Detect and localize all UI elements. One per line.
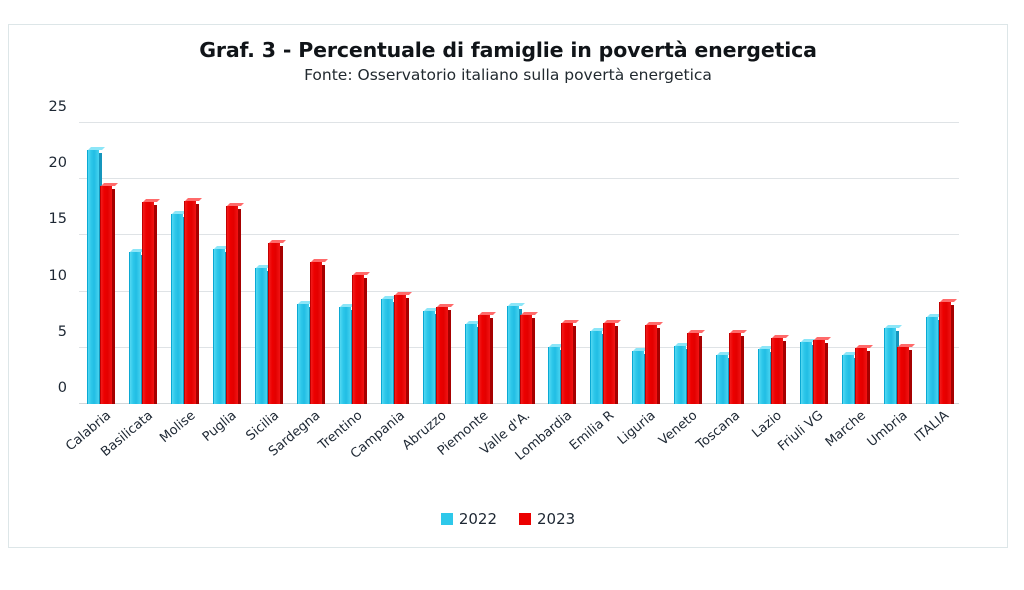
bar-2023 bbox=[687, 333, 699, 404]
bar-2023 bbox=[897, 347, 909, 404]
bar-group bbox=[247, 123, 289, 404]
legend-swatch-icon bbox=[519, 513, 531, 525]
x-axis-label-slot: Puglia bbox=[205, 404, 247, 494]
x-axis-tick-label: Molise bbox=[157, 408, 198, 446]
bar-group bbox=[456, 123, 498, 404]
legend-label: 2022 bbox=[459, 510, 497, 528]
bar-2022 bbox=[590, 331, 602, 404]
bar-group bbox=[163, 123, 205, 404]
bar-2022 bbox=[926, 317, 938, 404]
bar-group bbox=[79, 123, 121, 404]
bar-group bbox=[666, 123, 708, 404]
y-axis-tick-label: 15 bbox=[49, 211, 67, 227]
bar-2022 bbox=[297, 304, 309, 404]
x-axis-tick-label: ITALIA bbox=[912, 408, 952, 445]
bar-2022 bbox=[255, 268, 267, 404]
bar-group bbox=[624, 123, 666, 404]
bar-2023 bbox=[645, 325, 657, 404]
bar-group bbox=[875, 123, 917, 404]
x-axis-label-slot: Liguria bbox=[624, 404, 666, 494]
plot-area: 0510152025 bbox=[79, 123, 959, 404]
bar-2022 bbox=[548, 347, 560, 404]
bar-2022 bbox=[632, 351, 644, 404]
y-axis-tick-label: 20 bbox=[49, 155, 67, 171]
bar-group bbox=[414, 123, 456, 404]
x-axis-label-slot: Emilia R bbox=[582, 404, 624, 494]
bar-group bbox=[205, 123, 247, 404]
bar-2022 bbox=[842, 355, 854, 404]
chart-subtitle-source: Fonte: Osservatorio italiano sulla pover… bbox=[9, 66, 1007, 85]
bar-2023 bbox=[268, 243, 280, 404]
bar-2023 bbox=[813, 340, 825, 404]
chart-title-block: Graf. 3 - Percentuale di famiglie in pov… bbox=[9, 39, 1007, 84]
x-axis-labels: CalabriaBasilicataMolisePugliaSiciliaSar… bbox=[79, 404, 959, 494]
bar-group bbox=[540, 123, 582, 404]
bar-2022 bbox=[87, 150, 99, 404]
bar-2022 bbox=[674, 346, 686, 404]
bar-2023 bbox=[520, 315, 532, 404]
bar-2023 bbox=[436, 307, 448, 404]
bar-2023 bbox=[352, 275, 364, 404]
bar-2022 bbox=[339, 307, 351, 404]
legend-item-2022[interactable]: 2022 bbox=[441, 510, 497, 528]
bar-group bbox=[791, 123, 833, 404]
x-axis-label-slot: ITALIA bbox=[917, 404, 959, 494]
bar-group bbox=[330, 123, 372, 404]
bar-2022 bbox=[507, 306, 519, 404]
bar-series-area bbox=[79, 123, 959, 404]
bar-2022 bbox=[213, 249, 225, 404]
bar-2022 bbox=[423, 311, 435, 404]
bar-2023 bbox=[478, 315, 490, 404]
x-axis-label-slot: Toscana bbox=[708, 404, 750, 494]
bar-group bbox=[498, 123, 540, 404]
x-axis-tick-label: Puglia bbox=[200, 408, 240, 445]
bar-2022 bbox=[381, 299, 393, 404]
bar-group bbox=[708, 123, 750, 404]
legend-item-2023[interactable]: 2023 bbox=[519, 510, 575, 528]
x-axis-label-slot: Friuli VG bbox=[791, 404, 833, 494]
bar-2023 bbox=[142, 202, 154, 404]
bar-2022 bbox=[758, 349, 770, 404]
bar-group bbox=[750, 123, 792, 404]
bar-2023 bbox=[561, 323, 573, 404]
y-axis-tick-label: 0 bbox=[58, 380, 67, 396]
x-axis-label-slot: Molise bbox=[163, 404, 205, 494]
bar-2022 bbox=[465, 324, 477, 404]
x-axis-label-slot: Marche bbox=[833, 404, 875, 494]
bar-group bbox=[917, 123, 959, 404]
bar-2023 bbox=[729, 333, 741, 404]
bar-group bbox=[372, 123, 414, 404]
bar-2023 bbox=[855, 348, 867, 404]
bar-group bbox=[289, 123, 331, 404]
bar-2022 bbox=[171, 214, 183, 404]
bar-group bbox=[582, 123, 624, 404]
x-axis-label-slot: Umbria bbox=[875, 404, 917, 494]
bar-2023 bbox=[184, 201, 196, 404]
bar-2023 bbox=[310, 262, 322, 404]
legend-label: 2023 bbox=[537, 510, 575, 528]
bar-2022 bbox=[716, 355, 728, 404]
legend-swatch-icon bbox=[441, 513, 453, 525]
x-axis-tick-label: Lazio bbox=[749, 408, 784, 441]
bar-2023 bbox=[394, 295, 406, 404]
bar-group bbox=[121, 123, 163, 404]
bar-2023 bbox=[100, 186, 112, 404]
bar-2022 bbox=[884, 328, 896, 404]
bar-2023 bbox=[603, 323, 615, 404]
chart-legend: 20222023 bbox=[9, 510, 1007, 528]
bar-2022 bbox=[129, 252, 141, 404]
y-axis-tick-label: 25 bbox=[49, 99, 67, 115]
y-axis-tick-label: 5 bbox=[58, 324, 67, 340]
chart-container: Graf. 3 - Percentuale di famiglie in pov… bbox=[8, 24, 1008, 548]
chart-title: Graf. 3 - Percentuale di famiglie in pov… bbox=[9, 39, 1007, 63]
bar-2022 bbox=[800, 342, 812, 404]
x-axis-label-slot: Basilicata bbox=[121, 404, 163, 494]
bar-2023 bbox=[226, 206, 238, 404]
y-axis-tick-label: 10 bbox=[49, 268, 67, 284]
bar-2023 bbox=[771, 338, 783, 404]
bar-2023 bbox=[939, 302, 951, 404]
bar-group bbox=[833, 123, 875, 404]
